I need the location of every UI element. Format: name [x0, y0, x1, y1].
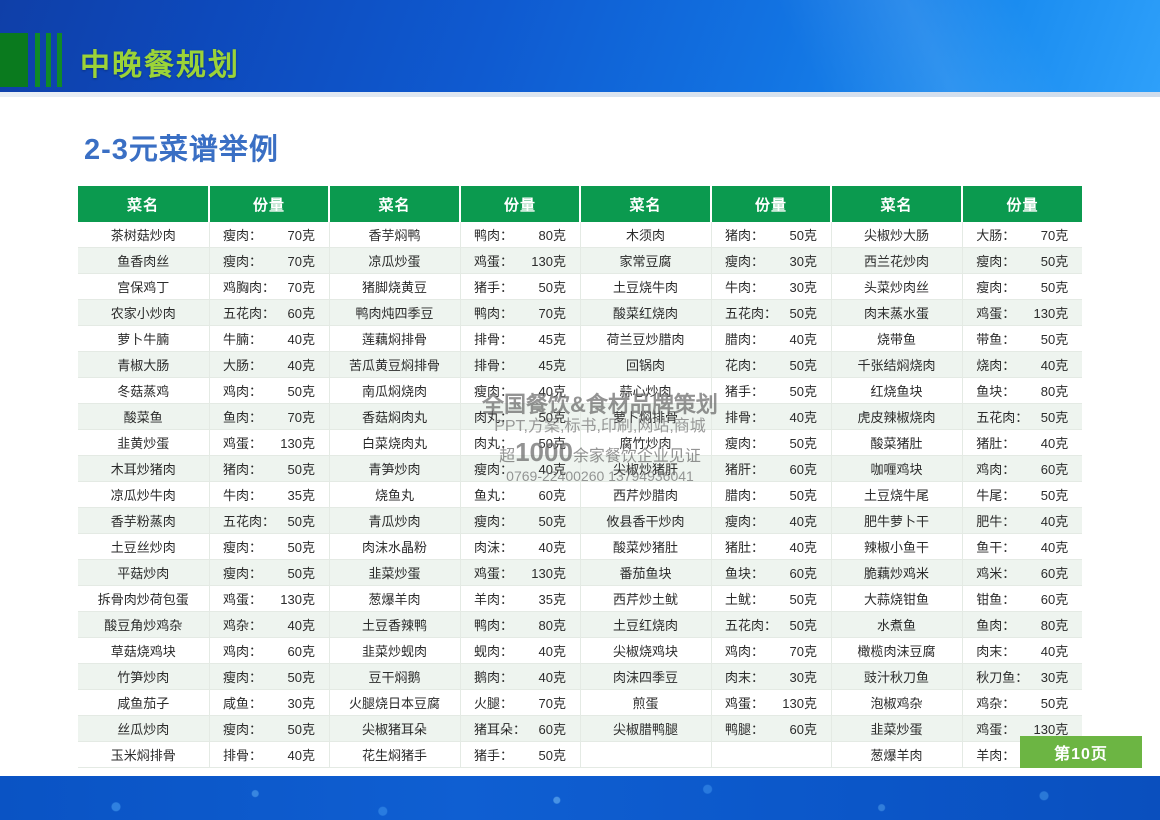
portion-inner: 五花肉：50克	[976, 407, 1068, 426]
ingredient-label: 猪肉：	[725, 225, 764, 244]
portion-inner: 五花肉：60克	[223, 303, 315, 322]
ingredient-amount: 60克	[539, 485, 566, 504]
ingredient-label: 鸡肉：	[725, 641, 764, 660]
dish-name-cell: 冬菇蒸鸡	[78, 378, 209, 404]
dish-name-cell: 韭黄炒蛋	[78, 430, 209, 456]
portion-cell: 瘦肉：40克	[711, 508, 831, 534]
portion-inner: 五花肉：50克	[223, 511, 315, 530]
portion-inner: 鸡肉：60克	[223, 641, 315, 660]
ingredient-amount: 50克	[790, 225, 817, 244]
portion-cell: 五花肉：50克	[962, 404, 1082, 430]
ingredient-label: 烧肉：	[976, 355, 1015, 374]
portion-inner: 瘦肉：50克	[976, 277, 1068, 296]
portion-inner: 瘦肉：50克	[223, 667, 315, 686]
dish-name-cell: 西芹炒腊肉	[580, 482, 711, 508]
portion-inner: 瘦肉：50克	[223, 563, 315, 582]
dish-name-cell: 香芋粉蒸肉	[78, 508, 209, 534]
ingredient-amount: 50克	[790, 589, 817, 608]
portion-cell: 鸡肉：50克	[209, 378, 329, 404]
dish-name-cell: 花生焖猪手	[329, 742, 460, 768]
portion-inner: 肉丸：50克	[474, 407, 566, 426]
ingredient-label: 五花肉：	[223, 511, 275, 530]
ingredient-label: 瘦肉：	[223, 667, 262, 686]
ingredient-amount: 40克	[1041, 355, 1068, 374]
portion-inner: 鸡杂：50克	[976, 693, 1068, 712]
col-header-name-2: 菜名	[329, 186, 460, 222]
portion-cell: 鱼块：80克	[962, 378, 1082, 404]
menu-table: 菜名 份量 菜名 份量 菜名 份量 菜名 份量 茶树菇炒肉瘦肉：70克香芋焖鸭鸭…	[78, 186, 1082, 768]
ingredient-label: 鱼块：	[976, 381, 1015, 400]
ingredient-label: 瘦肉：	[223, 225, 262, 244]
ingredient-label: 鸡蛋：	[474, 563, 513, 582]
header-title: 中晚餐规划	[80, 40, 240, 84]
ingredient-label: 瘦肉：	[223, 251, 262, 270]
portion-cell: 鸡米：60克	[962, 560, 1082, 586]
ingredient-amount: 40克	[539, 459, 566, 478]
dish-name-cell: 莲藕焖排骨	[329, 326, 460, 352]
ingredient-label: 鸡蛋：	[976, 303, 1015, 322]
ingredient-amount: 50克	[288, 381, 315, 400]
ingredient-label: 肉沫：	[474, 537, 513, 556]
ingredient-amount: 50克	[539, 511, 566, 530]
ingredient-amount: 40克	[288, 355, 315, 374]
portion-inner: 排骨：45克	[474, 329, 566, 348]
ingredient-amount: 130克	[531, 251, 566, 270]
table-row: 土豆丝炒肉瘦肉：50克肉沫水晶粉肉沫：40克酸菜炒猪肚猪肚：40克辣椒小鱼干鱼干…	[78, 534, 1082, 560]
dish-name-cell: 豉汁秋刀鱼	[831, 664, 962, 690]
portion-cell: 肉丸：50克	[460, 430, 580, 456]
portion-inner: 牛肉：30克	[725, 277, 817, 296]
portion-inner: 鱼干：40克	[976, 537, 1068, 556]
portion-inner: 鸡肉：60克	[976, 459, 1068, 478]
portion-inner: 鸡杂：40克	[223, 615, 315, 634]
portion-cell: 猪耳朵：60克	[460, 716, 580, 742]
portion-cell: 肉沫：40克	[460, 534, 580, 560]
dish-name-cell: 平菇炒肉	[78, 560, 209, 586]
portion-inner: 鸡蛋：130克	[976, 303, 1068, 322]
portion-inner: 猪肉：50克	[725, 225, 817, 244]
portion-cell: 五花肉：50克	[711, 300, 831, 326]
ingredient-amount: 50克	[288, 667, 315, 686]
portion-inner: 瘦肉：40克	[474, 459, 566, 478]
col-header-qty-3: 份量	[711, 186, 831, 222]
ingredient-label: 钳鱼：	[976, 589, 1015, 608]
green-bar-icon-2	[46, 33, 51, 87]
ingredient-label: 猪肚：	[725, 537, 764, 556]
portion-cell: 排骨：45克	[460, 326, 580, 352]
ingredient-label: 鱼丸：	[474, 485, 513, 504]
dish-name-cell: 肉末蒸水蛋	[831, 300, 962, 326]
portion-cell: 鱼肉：70克	[209, 404, 329, 430]
ingredient-amount: 130克	[280, 433, 315, 452]
ingredient-label: 牛肉：	[223, 485, 262, 504]
portion-cell: 肥牛：40克	[962, 508, 1082, 534]
dish-name-cell: 萝卜牛腩	[78, 326, 209, 352]
ingredient-amount: 30克	[790, 667, 817, 686]
portion-inner: 瘦肉：50克	[223, 719, 315, 738]
dish-name-cell: 西芹炒土鱿	[580, 586, 711, 612]
portion-inner: 瘦肉：50克	[725, 433, 817, 452]
ingredient-amount: 40克	[539, 641, 566, 660]
dish-name-cell: 尖椒腊鸭腿	[580, 716, 711, 742]
ingredient-label: 鸡蛋：	[223, 589, 262, 608]
portion-cell: 猪手：50克	[460, 274, 580, 300]
ingredient-label: 鸭腿：	[725, 719, 764, 738]
ingredient-amount: 35克	[539, 589, 566, 608]
dish-name-cell: 泡椒鸡杂	[831, 690, 962, 716]
ingredient-label: 秋刀鱼：	[976, 667, 1028, 686]
portion-cell: 瘦肉：70克	[209, 248, 329, 274]
portion-cell: 猪肝：60克	[711, 456, 831, 482]
portion-inner: 鸡肉：70克	[725, 641, 817, 660]
ingredient-amount: 60克	[539, 719, 566, 738]
dish-name-cell: 鱼香肉丝	[78, 248, 209, 274]
ingredient-label: 排骨：	[223, 745, 262, 764]
ingredient-amount: 50克	[1041, 329, 1068, 348]
portion-cell: 咸鱼：30克	[209, 690, 329, 716]
portion-cell: 猪肉：50克	[711, 222, 831, 248]
ingredient-amount: 50克	[1041, 251, 1068, 270]
portion-cell: 瘦肉：40克	[460, 456, 580, 482]
portion-inner: 鹅肉：40克	[474, 667, 566, 686]
portion-cell: 瘦肉：50克	[460, 508, 580, 534]
dish-name-cell: 酸菜炒猪肚	[580, 534, 711, 560]
ingredient-label: 羊肉：	[976, 745, 1015, 764]
table-row: 酸豆角炒鸡杂鸡杂：40克土豆香辣鸭鸭肉：80克土豆红烧肉五花肉：50克水煮鱼鱼肉…	[78, 612, 1082, 638]
ingredient-label: 大肠：	[223, 355, 262, 374]
dish-name-cell: 红烧鱼块	[831, 378, 962, 404]
portion-cell: 土鱿：50克	[711, 586, 831, 612]
menu-table-body: 茶树菇炒肉瘦肉：70克香芋焖鸭鸭肉：80克木须肉猪肉：50克尖椒炒大肠大肠：70…	[78, 222, 1082, 768]
dish-name-cell: 烧带鱼	[831, 326, 962, 352]
portion-inner: 鱼肉：70克	[223, 407, 315, 426]
dish-name-cell: 丝瓜炒肉	[78, 716, 209, 742]
portion-inner: 土鱿：50克	[725, 589, 817, 608]
ingredient-label: 瘦肉：	[976, 277, 1015, 296]
portion-inner: 鸡米：60克	[976, 563, 1068, 582]
ingredient-amount: 40克	[288, 615, 315, 634]
ingredient-label: 瘦肉：	[725, 511, 764, 530]
portion-inner: 鸡肉：50克	[223, 381, 315, 400]
dish-name-cell: 酸菜红烧肉	[580, 300, 711, 326]
ingredient-amount: 40克	[539, 667, 566, 686]
table-row: 宫保鸡丁鸡胸肉：70克猪脚烧黄豆猪手：50克土豆烧牛肉牛肉：30克头菜炒肉丝瘦肉…	[78, 274, 1082, 300]
portion-inner: 肉末：30克	[725, 667, 817, 686]
portion-inner: 鸡蛋：130克	[223, 433, 315, 452]
portion-inner: 肉末：40克	[976, 641, 1068, 660]
ingredient-label: 五花肉：	[725, 615, 777, 634]
portion-inner: 羊肉：35克	[474, 589, 566, 608]
portion-cell: 鸡蛋：130克	[209, 430, 329, 456]
ingredient-label: 鸡米：	[976, 563, 1015, 582]
ingredient-label: 羊肉：	[474, 589, 513, 608]
portion-cell: 火腿：70克	[460, 690, 580, 716]
ingredient-label: 猪手：	[474, 745, 513, 764]
ingredient-amount: 50克	[790, 303, 817, 322]
ingredient-label: 鸡杂：	[976, 693, 1015, 712]
portion-inner: 鱼块：60克	[725, 563, 817, 582]
portion-cell: 瘦肉：50克	[711, 430, 831, 456]
ingredient-label: 鸭肉：	[474, 615, 513, 634]
ingredient-amount: 50克	[1041, 485, 1068, 504]
portion-cell: 鹅肉：40克	[460, 664, 580, 690]
ingredient-label: 大肠：	[976, 225, 1015, 244]
ingredient-amount: 70克	[539, 693, 566, 712]
ingredient-label: 瘦肉：	[976, 251, 1015, 270]
portion-cell: 瘦肉：40克	[460, 378, 580, 404]
dish-name-cell: 西兰花炒肉	[831, 248, 962, 274]
ingredient-label: 鸡蛋：	[474, 251, 513, 270]
ingredient-amount: 70克	[288, 277, 315, 296]
ingredient-label: 鱼肉：	[223, 407, 262, 426]
ingredient-label: 鸡蛋：	[223, 433, 262, 452]
portion-inner: 大肠：40克	[223, 355, 315, 374]
portion-inner: 猪肚：40克	[976, 433, 1068, 452]
ingredient-amount: 130克	[782, 693, 817, 712]
ingredient-label: 腊肉：	[725, 485, 764, 504]
dish-name-cell: 肉沫水晶粉	[329, 534, 460, 560]
dish-name-cell: 大蒜烧钳鱼	[831, 586, 962, 612]
ingredient-label: 土鱿：	[725, 589, 764, 608]
portion-cell: 瘦肉：50克	[209, 534, 329, 560]
portion-cell: 大肠：70克	[962, 222, 1082, 248]
dish-name-cell: 萝卜焖排骨	[580, 404, 711, 430]
col-header-qty-4: 份量	[962, 186, 1082, 222]
ingredient-label: 肉末：	[976, 641, 1015, 660]
portion-inner: 排骨：40克	[725, 407, 817, 426]
dish-name-cell: 土豆丝炒肉	[78, 534, 209, 560]
dish-name-cell: 肥牛萝卜干	[831, 508, 962, 534]
portion-cell: 鸡蛋：130克	[209, 586, 329, 612]
ingredient-label: 牛尾：	[976, 485, 1015, 504]
ingredient-amount: 80克	[539, 225, 566, 244]
portion-inner: 鱼丸：60克	[474, 485, 566, 504]
ingredient-amount: 40克	[1041, 511, 1068, 530]
ingredient-amount: 70克	[288, 225, 315, 244]
portion-inner: 瘦肉：70克	[223, 225, 315, 244]
portion-cell: 鸡肉：60克	[962, 456, 1082, 482]
ingredient-amount: 50克	[288, 563, 315, 582]
portion-cell: 牛腩：40克	[209, 326, 329, 352]
ingredient-label: 猪肚：	[976, 433, 1015, 452]
dish-name-cell: 猪脚烧黄豆	[329, 274, 460, 300]
ingredient-label: 猪手：	[725, 381, 764, 400]
portion-inner: 瘦肉：40克	[474, 381, 566, 400]
dish-name-cell: 腐竹炒肉	[580, 430, 711, 456]
ingredient-label: 五花肉：	[223, 303, 275, 322]
ingredient-amount: 50克	[1041, 693, 1068, 712]
ingredient-label: 肉末：	[725, 667, 764, 686]
portion-cell: 五花肉：60克	[209, 300, 329, 326]
table-row: 香芋粉蒸肉五花肉：50克青瓜炒肉瘦肉：50克攸县香干炒肉瘦肉：40克肥牛萝卜干肥…	[78, 508, 1082, 534]
dish-name-cell: 烧鱼丸	[329, 482, 460, 508]
dish-name-cell: 荷兰豆炒腊肉	[580, 326, 711, 352]
portion-cell: 鱼肉：80克	[962, 612, 1082, 638]
portion-inner: 牛肉：35克	[223, 485, 315, 504]
table-row: 丝瓜炒肉瘦肉：50克尖椒猪耳朵猪耳朵：60克尖椒腊鸭腿鸭腿：60克韭菜炒蛋鸡蛋：…	[78, 716, 1082, 742]
ingredient-amount: 40克	[539, 537, 566, 556]
portion-inner: 肥牛：40克	[976, 511, 1068, 530]
table-row: 草菇烧鸡块鸡肉：60克韭菜炒蚬肉蚬肉：40克尖椒烧鸡块鸡肉：70克橄榄肉沫豆腐肉…	[78, 638, 1082, 664]
portion-cell: 带鱼：50克	[962, 326, 1082, 352]
portion-inner: 花肉：50克	[725, 355, 817, 374]
table-row: 萝卜牛腩牛腩：40克莲藕焖排骨排骨：45克荷兰豆炒腊肉腊肉：40克烧带鱼带鱼：5…	[78, 326, 1082, 352]
table-row: 青椒大肠大肠：40克苦瓜黄豆焖排骨排骨：45克回锅肉花肉：50克千张结焖烧肉烧肉…	[78, 352, 1082, 378]
ingredient-amount: 30克	[790, 251, 817, 270]
dish-name-cell: 番茄鱼块	[580, 560, 711, 586]
green-bar-icon-1	[35, 33, 40, 87]
portion-cell: 排骨：45克	[460, 352, 580, 378]
dish-name-cell: 脆藕炒鸡米	[831, 560, 962, 586]
dish-name-cell: 凉瓜炒蛋	[329, 248, 460, 274]
ingredient-label: 鸭肉：	[474, 225, 513, 244]
portion-inner: 牛尾：50克	[976, 485, 1068, 504]
portion-cell: 秋刀鱼：30克	[962, 664, 1082, 690]
ingredient-label: 鸡蛋：	[725, 693, 764, 712]
dish-name-cell: 酸豆角炒鸡杂	[78, 612, 209, 638]
portion-inner: 猪手：50克	[474, 277, 566, 296]
portion-inner: 鱼肉：80克	[976, 615, 1068, 634]
dish-name-cell: 尖椒炒大肠	[831, 222, 962, 248]
ingredient-amount: 50克	[539, 433, 566, 452]
dish-name-cell: 回锅肉	[580, 352, 711, 378]
portion-cell: 鱼丸：60克	[460, 482, 580, 508]
portion-inner: 猪耳朵：60克	[474, 719, 566, 738]
portion-inner: 带鱼：50克	[976, 329, 1068, 348]
portion-cell: 鱼干：40克	[962, 534, 1082, 560]
ingredient-amount: 50克	[790, 433, 817, 452]
ingredient-label: 鱼块：	[725, 563, 764, 582]
table-row: 平菇炒肉瘦肉：50克韭菜炒蛋鸡蛋：130克番茄鱼块鱼块：60克脆藕炒鸡米鸡米：6…	[78, 560, 1082, 586]
portion-cell: 鸡胸肉：70克	[209, 274, 329, 300]
ingredient-amount: 35克	[288, 485, 315, 504]
dish-name-cell: 木须肉	[580, 222, 711, 248]
portion-inner: 鸭肉：70克	[474, 303, 566, 322]
portion-cell: 瘦肉：50克	[962, 248, 1082, 274]
ingredient-label: 带鱼：	[976, 329, 1015, 348]
portion-cell: 鸭肉：80克	[460, 612, 580, 638]
ingredient-label: 排骨：	[474, 355, 513, 374]
dish-name-cell: 拆骨肉炒荷包蛋	[78, 586, 209, 612]
table-row: 玉米焖排骨排骨：40克花生焖猪手猪手：50克葱爆羊肉羊肉：35克	[78, 742, 1082, 768]
table-row: 竹笋炒肉瘦肉：50克豆干焖鹅鹅肉：40克肉沫四季豆肉末：30克豉汁秋刀鱼秋刀鱼：…	[78, 664, 1082, 690]
ingredient-label: 猪耳朵：	[474, 719, 526, 738]
portion-cell: 瘦肉：30克	[711, 248, 831, 274]
ingredient-amount: 40克	[1041, 641, 1068, 660]
dish-name-cell: 宫保鸡丁	[78, 274, 209, 300]
ingredient-amount: 60克	[288, 303, 315, 322]
portion-cell: 鸡蛋：130克	[460, 248, 580, 274]
portion-cell: 牛肉：35克	[209, 482, 329, 508]
ingredient-amount: 40克	[1041, 537, 1068, 556]
portion-cell	[711, 742, 831, 768]
ingredient-amount: 60克	[1041, 459, 1068, 478]
ingredient-label: 五花肉：	[976, 407, 1028, 426]
slide-root: 中晚餐规划 2-3元菜谱举例 菜名 份量 菜名 份量 菜名 份量 菜名	[0, 0, 1160, 820]
dish-name-cell: 农家小炒肉	[78, 300, 209, 326]
portion-cell: 猪肉：50克	[209, 456, 329, 482]
ingredient-amount: 40克	[790, 511, 817, 530]
ingredient-label: 瘦肉：	[474, 459, 513, 478]
portion-cell: 大肠：40克	[209, 352, 329, 378]
dish-name-cell: 鸭肉炖四季豆	[329, 300, 460, 326]
dish-name-cell: 香芋焖鸭	[329, 222, 460, 248]
menu-table-container: 菜名 份量 菜名 份量 菜名 份量 菜名 份量 茶树菇炒肉瘦肉：70克香芋焖鸭鸭…	[78, 186, 1082, 768]
portion-cell: 牛尾：50克	[962, 482, 1082, 508]
ingredient-amount: 60克	[288, 641, 315, 660]
portion-cell: 鸡肉：70克	[711, 638, 831, 664]
dish-name-cell: 土豆红烧肉	[580, 612, 711, 638]
ingredient-label: 花肉：	[725, 355, 764, 374]
ingredient-label: 牛腩：	[223, 329, 262, 348]
portion-inner: 鸭肉：80克	[474, 615, 566, 634]
portion-cell: 腊肉：40克	[711, 326, 831, 352]
dish-name-cell: 尖椒烧鸡块	[580, 638, 711, 664]
dish-name-cell: 千张结焖烧肉	[831, 352, 962, 378]
dish-name-cell: 玉米焖排骨	[78, 742, 209, 768]
dish-name-cell: 酸菜鱼	[78, 404, 209, 430]
portion-cell: 鸡蛋：130克	[711, 690, 831, 716]
ingredient-label: 瘦肉：	[725, 433, 764, 452]
ingredient-label: 肉丸：	[474, 433, 513, 452]
col-header-qty-2: 份量	[460, 186, 580, 222]
portion-cell: 瘦肉：50克	[209, 664, 329, 690]
ingredient-amount: 60克	[790, 719, 817, 738]
green-bar-icon-3	[57, 33, 62, 87]
portion-inner: 秋刀鱼：30克	[976, 667, 1068, 686]
portion-inner: 猪肝：60克	[725, 459, 817, 478]
ingredient-amount: 50克	[790, 485, 817, 504]
ingredient-label: 肉丸：	[474, 407, 513, 426]
portion-cell: 排骨：40克	[711, 404, 831, 430]
dish-name-cell: 葱爆羊肉	[831, 742, 962, 768]
portion-cell: 鸭肉：70克	[460, 300, 580, 326]
portion-inner: 鸡蛋：130克	[474, 563, 566, 582]
dish-name-cell: 香菇焖肉丸	[329, 404, 460, 430]
ingredient-label: 鱼干：	[976, 537, 1015, 556]
portion-cell: 猪手：50克	[711, 378, 831, 404]
dish-name-cell: 尖椒炒猪肝	[580, 456, 711, 482]
ingredient-amount: 50克	[539, 745, 566, 764]
portion-inner: 猪手：50克	[474, 745, 566, 764]
portion-cell: 鸡杂：50克	[962, 690, 1082, 716]
portion-inner: 烧肉：40克	[976, 355, 1068, 374]
ingredient-amount: 40克	[790, 537, 817, 556]
portion-cell: 鱼块：60克	[711, 560, 831, 586]
ingredient-label: 排骨：	[474, 329, 513, 348]
portion-inner: 大肠：70克	[976, 225, 1068, 244]
ingredient-amount: 50克	[539, 277, 566, 296]
portion-inner: 五花肉：50克	[725, 303, 817, 322]
dish-name-cell: 茶树菇炒肉	[78, 222, 209, 248]
portion-inner: 咸鱼：30克	[223, 693, 315, 712]
dish-name-cell: 白菜烧肉丸	[329, 430, 460, 456]
ingredient-amount: 40克	[288, 745, 315, 764]
green-block-icon	[0, 33, 28, 87]
ingredient-amount: 50克	[790, 355, 817, 374]
dish-name-cell: 青笋炒肉	[329, 456, 460, 482]
ingredient-amount: 50克	[1041, 277, 1068, 296]
dish-name-cell: 凉瓜炒牛肉	[78, 482, 209, 508]
portion-cell: 瘦肉：70克	[209, 222, 329, 248]
ingredient-amount: 40克	[539, 381, 566, 400]
portion-inner: 鸡胸肉：70克	[223, 277, 315, 296]
footer-banner	[0, 776, 1160, 820]
dish-name-cell: 土豆香辣鸭	[329, 612, 460, 638]
dish-name-cell	[580, 742, 711, 768]
portion-inner: 瘦肉：50克	[976, 251, 1068, 270]
portion-inner: 猪肉：50克	[223, 459, 315, 478]
